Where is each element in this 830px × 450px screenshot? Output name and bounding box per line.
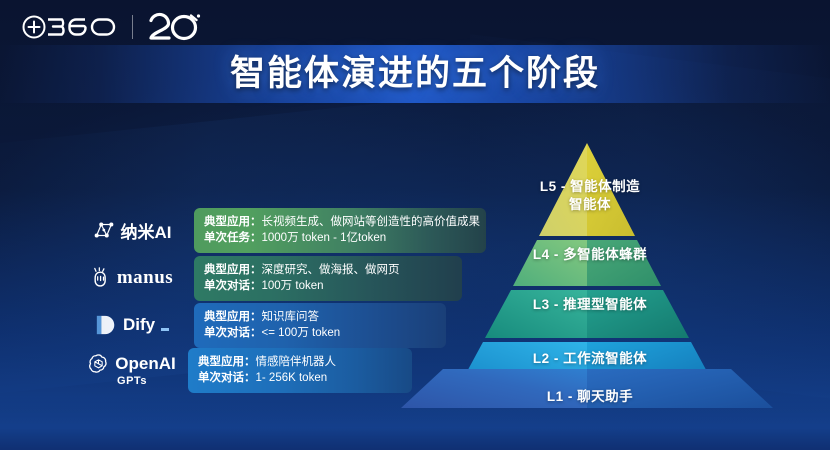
- info-box-openai-gpts: 典型应用：情感陪伴机器人 单次对话：1- 256K token: [188, 348, 412, 393]
- slide-canvas: 智能体演进的五个阶段: [0, 0, 830, 450]
- info-value-tokens: 1000万 token - 1亿token: [262, 232, 387, 244]
- info-label-tokens: 单次对话：: [204, 280, 262, 292]
- brand-label: 纳米AI: [121, 218, 172, 243]
- pyramid-level-5-right-face: [587, 143, 635, 236]
- logo-divider: [132, 15, 133, 39]
- info-label-tokens: 单次对话：: [204, 327, 262, 339]
- brand-manus: manus: [78, 267, 186, 289]
- brand-nano-ai: 纳米AI: [78, 218, 186, 243]
- nano-ai-logo-icon: [93, 219, 115, 241]
- info-value-tokens: 100万 token: [262, 280, 324, 292]
- pyramid-level-1-right-face: [587, 369, 773, 408]
- brand-logo-bar: [22, 10, 203, 44]
- info-label-application: 典型应用：: [204, 216, 262, 228]
- product-row-dify[interactable]: Dify 典型应用：知识库问答 单次对话：<= 100万 token: [78, 303, 446, 347]
- info-label-tokens: 单次任务：: [204, 232, 262, 244]
- manus-logo-icon: [91, 267, 111, 289]
- info-line-application: 典型应用：情感陪伴机器人: [198, 354, 402, 370]
- pyramid-level-4-right-face: [587, 240, 661, 286]
- brand-label: Dify: [123, 315, 155, 335]
- openai-logo-icon: [88, 353, 109, 374]
- info-line-tokens: 单次对话：1- 256K token: [198, 370, 402, 386]
- dify-underscore-icon: [161, 328, 169, 331]
- info-label-application: 典型应用：: [198, 356, 256, 368]
- product-row-openai-gpts[interactable]: OpenAI GPTs 典型应用：情感陪伴机器人 单次对话：1- 256K to…: [78, 348, 412, 392]
- 360-logo: [22, 14, 118, 40]
- info-value-application: 深度研究、做海报、做网页: [262, 264, 400, 276]
- info-label-tokens: 单次对话：: [198, 372, 256, 384]
- pyramid-svg: [395, 138, 785, 413]
- info-label-application: 典型应用：: [204, 264, 262, 276]
- pyramid-level-4-left-face: [513, 240, 587, 286]
- brand-openai: OpenAI GPTs: [78, 353, 186, 387]
- info-value-application: 知识库问答: [262, 311, 320, 323]
- brand-dify: Dify: [78, 313, 186, 337]
- info-label-application: 典型应用：: [204, 311, 262, 323]
- 20th-anniversary-logo-icon: [147, 12, 203, 42]
- dify-logo-icon: [95, 313, 117, 337]
- brand-label: OpenAI: [115, 354, 175, 374]
- info-value-tokens: 1- 256K token: [256, 372, 328, 384]
- pyramid-level-3-left-face: [485, 290, 587, 338]
- pyramid-level-3-right-face: [587, 290, 689, 338]
- info-value-tokens: <= 100万 token: [262, 327, 341, 339]
- brand-sublabel: GPTs: [117, 375, 147, 387]
- info-value-application: 情感陪伴机器人: [256, 356, 337, 368]
- page-title: 智能体演进的五个阶段: [0, 50, 830, 98]
- agent-evolution-pyramid: L5 - 智能体制造 智能体 L4 - 多智能体蜂群 L3 - 推理型智能体 L…: [395, 138, 785, 413]
- pyramid-level-1-left-face: [401, 369, 587, 408]
- pyramid-level-5-left-face: [539, 143, 587, 236]
- 360-logo-icon: [22, 14, 118, 40]
- brand-label: manus: [117, 267, 173, 289]
